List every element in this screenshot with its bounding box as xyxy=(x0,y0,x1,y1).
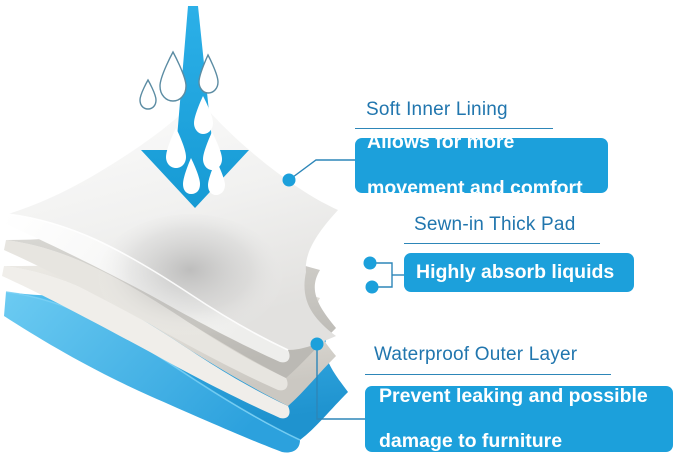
callout-line-1: Allows for more xyxy=(367,131,608,154)
connector-dot xyxy=(283,174,296,187)
callout-box-soft-inner-lining: Allows for moremovement and comfort xyxy=(355,138,608,193)
connector-dot xyxy=(366,281,379,294)
callout-rule-soft-inner-lining xyxy=(355,128,553,129)
callout-line-2: movement and comfort xyxy=(367,177,608,200)
connector-soft-inner-lining xyxy=(283,160,356,187)
connector-dot xyxy=(364,257,377,270)
callout-box-sewn-in-thick-pad: Highly absorb liquids xyxy=(404,253,634,292)
connector-dot xyxy=(311,338,324,351)
callout-heading-waterproof-outer-layer: Waterproof Outer Layer xyxy=(374,345,577,364)
callout-box-waterproof-outer-layer: Prevent leaking and possibledamage to fu… xyxy=(365,386,673,452)
callout-rule-sewn-in-thick-pad xyxy=(404,243,600,244)
callout-heading-sewn-in-thick-pad: Sewn-in Thick Pad xyxy=(414,215,575,234)
connector-sewn-in-thick-pad xyxy=(364,257,405,294)
callout-rule-waterproof-outer-layer xyxy=(365,374,611,375)
pad-layers-infographic: Soft Inner Lining Allows for moremovemen… xyxy=(0,0,679,456)
callout-line-1: Prevent leaking and possible xyxy=(379,385,673,408)
callout-heading-soft-inner-lining: Soft Inner Lining xyxy=(366,100,508,119)
callout-line-1: Highly absorb liquids xyxy=(416,261,634,284)
callout-line-2: damage to furniture xyxy=(379,430,673,453)
